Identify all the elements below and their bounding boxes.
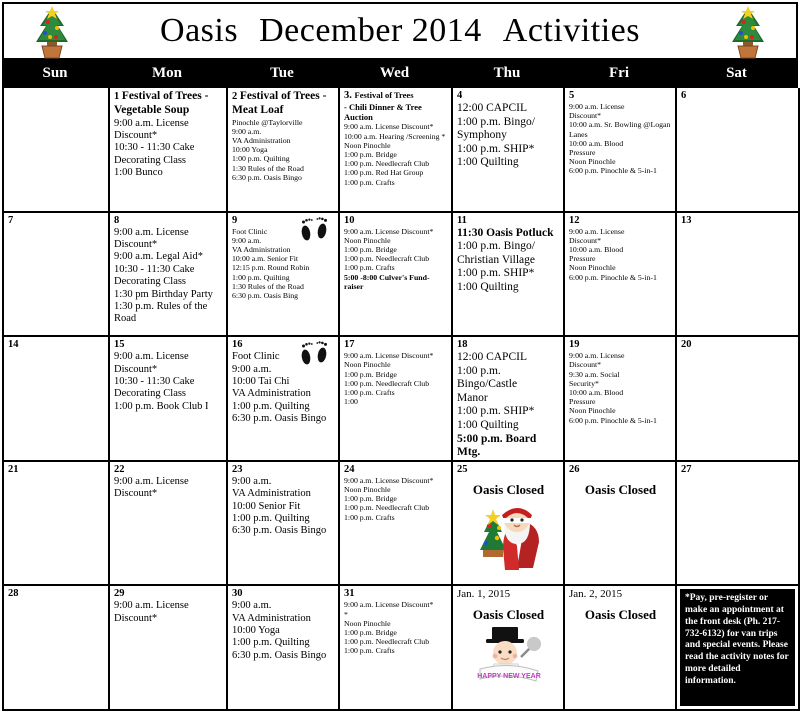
event-line: Discount*	[569, 236, 672, 245]
event-line: 9:00 a.m. License	[114, 600, 223, 612]
event-line: 1:00 Quilting	[457, 281, 560, 295]
event-line: 6:30 p.m. Oasis Bing	[232, 291, 335, 300]
day-number: 8	[114, 215, 223, 227]
day-cell[interactable]: 249:00 a.m. License Discount*Noon Pinoch…	[340, 462, 453, 587]
day-cell[interactable]: 7	[4, 213, 110, 338]
event-line: 1:00 p.m. Crafts	[344, 388, 448, 397]
day-title-line2: Meat Loaf	[232, 104, 335, 118]
event-line: 1:00 p.m. Bingo/	[457, 240, 560, 254]
event-line: 10:30 - 11:30 Cake	[114, 142, 223, 154]
event-line: 1:00 p.m. Quilting	[232, 513, 335, 525]
day-number: 29	[114, 588, 223, 600]
event-line: 10:00 a.m. Blood	[569, 245, 672, 254]
event-line: Pressure	[569, 254, 672, 263]
event-line: Decorating Class	[114, 276, 223, 288]
day-cell[interactable]: 319:00 a.m. License Discount**Noon Pinoc…	[340, 586, 453, 711]
day-number: 23	[232, 464, 335, 476]
closed-label: Oasis Closed	[569, 482, 672, 498]
day-number: 17	[344, 339, 448, 351]
day-title: Festival of Trees	[355, 90, 414, 100]
event-line: *	[344, 610, 448, 619]
day-number: 12	[569, 215, 672, 227]
event-line-highlight: 5:00 -8:00 Culver's Fund-	[344, 273, 448, 282]
day-cell[interactable]: 1111:30 Oasis Potluck1:00 p.m. Bingo/Chr…	[453, 213, 565, 338]
event-line: VA Administration	[232, 613, 335, 625]
event-line: Lanes	[569, 130, 672, 139]
event-line: 6:30 p.m. Oasis Bingo	[232, 413, 335, 425]
day-number: Jan. 2, 2015	[569, 588, 672, 601]
event-line: Pressure	[569, 397, 672, 406]
day-number: 15	[114, 339, 223, 351]
event-line: Symphony	[457, 129, 560, 143]
day-cell[interactable]: 14	[4, 337, 110, 462]
day-cell[interactable]: 25Oasis Closed	[453, 462, 565, 587]
event-line: 1:00 p.m. Quilting	[232, 637, 335, 649]
day-cell[interactable]: 109:00 a.m. License Discount*Noon Pinoch…	[340, 213, 453, 338]
event-line: Noon Pinochle	[344, 360, 448, 369]
weekday-header-wed: Wed	[338, 60, 451, 86]
event-line: 1:00 p.m. Quilting	[232, 273, 335, 282]
event-line: 1:00 p.m. Needlecraft Club	[344, 159, 448, 168]
event-line: Noon Pinochle	[344, 619, 448, 628]
weekday-header-tue: Tue	[226, 60, 338, 86]
day-number: 20	[681, 339, 795, 351]
day-number-label: 1	[114, 91, 122, 102]
day-number: 21	[8, 464, 105, 476]
event-line: 1:00 p.m. Crafts	[344, 513, 448, 522]
day-cell[interactable]: Jan. 2, 2015Oasis Closed	[565, 586, 677, 711]
event-line: 1:00 p.m. Bingo/	[457, 116, 560, 130]
day-cell[interactable]: 412:00 CAPCIL1:00 p.m. Bingo/Symphony1:0…	[453, 88, 565, 213]
new-year-baby-image: HAPPY NEW YEAR	[472, 623, 546, 685]
day-number: 27	[681, 464, 795, 476]
event-line: Noon Pinochle	[569, 263, 672, 272]
event-line: Decorating Class	[114, 388, 223, 400]
event-line: Noon Pinochle	[344, 485, 448, 494]
event-line: 10:00 Yoga	[232, 145, 335, 154]
calendar-grid: 1 Festival of Trees -Vegetable Soup9:00 …	[2, 86, 798, 711]
day-number: Jan. 1, 2015	[457, 588, 560, 601]
day-cell[interactable]: 28	[4, 586, 110, 711]
day-cell[interactable]: 16Foot Clinic9:00 a.m.10:00 Tai ChiVA Ad…	[228, 337, 340, 462]
day-cell[interactable]: 1 Festival of Trees -Vegetable Soup9:00 …	[110, 88, 228, 213]
event-line: 10:00 a.m. Sr. Bowling @Logan	[569, 120, 672, 129]
event-line: 1:00 p.m. Quilting	[232, 401, 335, 413]
day-cell[interactable]: 2 Festival of Trees -Meat LoafPinochle @…	[228, 88, 340, 213]
event-line: 9:00 a.m. License	[114, 476, 223, 488]
event-line: 9:00 a.m. License	[569, 351, 672, 360]
event-line: 9:00 a.m. License	[569, 227, 672, 236]
event-line: Noon Pinochle	[569, 157, 672, 166]
day-cell[interactable]	[4, 88, 110, 213]
day-title: Festival of Trees -	[122, 90, 209, 102]
day-number: 31	[344, 588, 448, 600]
event-line: Discount*	[114, 364, 223, 376]
event-line: Discount*	[569, 111, 672, 120]
day-cell[interactable]: 9Foot Clinic9:00 a.m.VA Administration10…	[228, 213, 340, 338]
weekday-header-fri: Fri	[563, 60, 675, 86]
event-line: 9:00 a.m. License Discount*	[344, 476, 448, 485]
event-line: 1:00 p.m. Bridge	[344, 150, 448, 159]
day-cell[interactable]: 1812:00 CAPCIL1:00 p.m. Bingo/CastleMano…	[453, 337, 565, 462]
event-line: 6:30 p.m. Oasis Bingo	[232, 525, 335, 537]
footnote-box: *Pay, pre-register or make an appointmen…	[680, 589, 795, 706]
event-line: 12:00 CAPCIL	[457, 351, 560, 365]
event-line: 1:00 p.m. Quilting	[232, 154, 335, 163]
event-line: 1:00 p.m. SHIP*	[457, 405, 560, 419]
event-line: Decorating Class	[114, 155, 223, 167]
event-line: 1:00 p.m. Bingo/Castle	[457, 365, 560, 392]
event-line: 6:00 p.m. Pinochle & 5-in-1	[569, 273, 672, 282]
event-line: Discount*	[114, 239, 223, 251]
day-cell[interactable]: 26Oasis Closed	[565, 462, 677, 587]
event-line: 1:00 p.m. Bridge	[344, 628, 448, 637]
event-line: 1:00 Quilting	[457, 419, 560, 433]
day-cell[interactable]: 3. Festival of Trees- Chili Dinner & Tre…	[340, 88, 453, 213]
weekday-header-sat: Sat	[675, 60, 798, 86]
event-line: 9:00 a.m.	[232, 127, 335, 136]
event-line: 10:00 a.m. Blood	[569, 139, 672, 148]
day-cell[interactable]: 159:00 a.m. License Discount*10:30 - 11:…	[110, 337, 228, 462]
event-line: 1:00 p.m. Bridge	[344, 494, 448, 503]
day-cell[interactable]: 299:00 a.m. License Discount*	[110, 586, 228, 711]
closed-label: Oasis Closed	[569, 607, 672, 623]
day-cell[interactable]: *Pay, pre-register or make an appointmen…	[677, 586, 800, 711]
day-cell[interactable]: 59:00 a.m. License Discount*10:00 a.m. S…	[565, 88, 677, 213]
event-line: 9:30 a.m. Social	[569, 370, 672, 379]
day-cell[interactable]: 21	[4, 462, 110, 587]
event-line: 1:30 Rules of the Road	[232, 164, 335, 173]
christmas-tree-icon	[26, 6, 78, 60]
day-number: 11	[457, 215, 560, 227]
day-number: 5	[569, 90, 672, 102]
event-line: Pinochle @Taylorville	[232, 118, 335, 127]
day-title-line2: Vegetable Soup	[114, 104, 223, 118]
footprints-icon	[298, 217, 332, 243]
weekday-header-sun: Sun	[2, 60, 108, 86]
event-line: 12:15 p.m. Round Robin	[232, 263, 335, 272]
event-line: VA Administration	[232, 136, 335, 145]
title-part-month: December 2014	[259, 12, 482, 49]
day-number: 3. Festival of Trees	[344, 90, 448, 102]
event-line: 10:30 - 11:30 Cake	[114, 376, 223, 388]
day-cell[interactable]: 239:00 a.m.VA Administration10:00 Senior…	[228, 462, 340, 587]
event-line: 1:00 p.m. Crafts	[344, 263, 448, 272]
event-line-highlight: raiser	[344, 282, 448, 291]
day-number: 10	[344, 215, 448, 227]
day-number: 24	[344, 464, 448, 476]
day-number: 2 Festival of Trees -	[232, 90, 335, 104]
event-line: VA Administration	[232, 488, 335, 500]
event-line: 10:00 Yoga	[232, 625, 335, 637]
event-line: 1:00 p.m. Book Club I	[114, 401, 223, 413]
weekday-header-mon: Mon	[108, 60, 226, 86]
event-line: 9:00 a.m. License Discount*	[344, 351, 448, 360]
event-line: 1:30 Rules of the Road	[232, 282, 335, 291]
event-line: 9:00 a.m.	[232, 600, 335, 612]
event-line: VA Administration	[232, 245, 335, 254]
event-line: 9:00 a.m. License	[114, 227, 223, 239]
title-part-kind: Activities	[503, 12, 640, 49]
day-number: 1 Festival of Trees -	[114, 90, 223, 104]
day-number: 7	[8, 215, 105, 227]
event-line: 1:00	[344, 397, 448, 406]
event-line: Pressure	[569, 148, 672, 157]
event-line: 1:00 Quilting	[457, 156, 560, 170]
event-line: Discount*	[114, 488, 223, 500]
day-cell[interactable]: 89:00 a.m. License Discount*9:00 a.m. Le…	[110, 213, 228, 338]
event-line: 9:00 a.m. License	[114, 351, 223, 363]
day-number: 22	[114, 464, 223, 476]
event-line: 10:00 Senior Fit	[232, 501, 335, 513]
event-line: 9:00 a.m. License Discount*	[344, 122, 448, 131]
event-line: 9:00 a.m. License	[114, 118, 223, 130]
event-line: 10:30 - 11:30 Cake	[114, 264, 223, 276]
event-line: Discount*	[114, 130, 223, 142]
event-line: Discount*	[114, 613, 223, 625]
event-line: 1:00 p.m. Red Hat Group	[344, 168, 448, 177]
day-number: 18	[457, 339, 560, 351]
event-line: 1:00 p.m. Needlecraft Club	[344, 637, 448, 646]
event-line-highlight: 5:00 p.m. Board Mtg.	[457, 433, 560, 460]
day-cell[interactable]: 129:00 a.m. License Discount*10:00 a.m. …	[565, 213, 677, 338]
day-number: 4	[457, 90, 560, 102]
day-cell[interactable]: Jan. 1, 2015Oasis Closed HAPPY NEW YEAR	[453, 586, 565, 711]
event-line: 1:00 p.m. Needlecraft Club	[344, 254, 448, 263]
page-title: Oasis December 2014 Activities	[154, 12, 646, 50]
event-line: Noon Pinochle	[344, 141, 448, 150]
event-line: 12:00 CAPCIL	[457, 102, 560, 116]
calendar-page: Oasis December 2014 Activities SunMonTue…	[0, 0, 800, 606]
event-line: VA Administration	[232, 388, 335, 400]
day-number-label: 2	[232, 91, 240, 102]
event-line: 1:30 p.m. Rules of the Road	[114, 301, 223, 326]
event-line: 1:00 p.m. SHIP*	[457, 143, 560, 157]
day-cell[interactable]: 27	[677, 462, 800, 587]
day-cell[interactable]: 309:00 a.m.VA Administration10:00 Yoga1:…	[228, 586, 340, 711]
day-number: 6	[681, 90, 795, 102]
day-number: 25	[457, 464, 560, 476]
weekday-header-row: SunMonTueWedThuFriSat	[2, 60, 798, 86]
event-line: 9:00 a.m. License	[569, 102, 672, 111]
day-cell[interactable]: 229:00 a.m. License Discount*	[110, 462, 228, 587]
title-part-org: Oasis	[160, 12, 238, 49]
day-number: 26	[569, 464, 672, 476]
event-line: 6:30 p.m. Oasis Bingo	[232, 173, 335, 182]
event-line: 1:00 p.m. Needlecraft Club	[344, 503, 448, 512]
event-line: 9:00 a.m. License Discount*	[344, 227, 448, 236]
event-line: 9:00 a.m. License Discount*	[344, 600, 448, 609]
day-cell[interactable]: 20	[677, 337, 800, 462]
weekday-header-thu: Thu	[451, 60, 563, 86]
day-number: 30	[232, 588, 335, 600]
event-line: 1:00 p.m. Bridge	[344, 245, 448, 254]
new-year-baby-artwork: HAPPY NEW YEAR	[457, 623, 560, 685]
event-line: Discount*	[569, 360, 672, 369]
closed-label: Oasis Closed	[457, 607, 560, 623]
event-line: Noon Pinochle	[344, 236, 448, 245]
day-number-label: 3.	[344, 90, 355, 101]
event-line: 1:00 p.m. Crafts	[344, 646, 448, 655]
event-line: Security*	[569, 379, 672, 388]
event-line: 6:00 p.m. Pinochle & 5-in-1	[569, 416, 672, 425]
day-cell[interactable]: 13	[677, 213, 800, 338]
svg-text:HAPPY NEW YEAR: HAPPY NEW YEAR	[477, 673, 541, 680]
event-line: 9:00 a.m. Legal Aid*	[114, 251, 223, 263]
day-cell[interactable]: 6	[677, 88, 800, 213]
day-title: Festival of Trees -	[240, 90, 327, 102]
day-cell[interactable]: 199:00 a.m. License Discount*9:30 a.m. S…	[565, 337, 677, 462]
event-line: Noon Pinochle	[569, 406, 672, 415]
day-number: 28	[8, 588, 105, 600]
event-line: 10:00 Tai Chi	[232, 376, 335, 388]
event-line: 1:00 p.m. SHIP*	[457, 267, 560, 281]
event-line: 10:00 a.m. Blood	[569, 388, 672, 397]
event-line: Manor	[457, 392, 560, 406]
event-line: Christian Village	[457, 254, 560, 268]
day-cell[interactable]: 179:00 a.m. License Discount*Noon Pinoch…	[340, 337, 453, 462]
event-line: 1:00 p.m. Needlecraft Club	[344, 379, 448, 388]
event-line: 6:00 p.m. Pinochle & 5-in-1	[569, 166, 672, 175]
day-number: 14	[8, 339, 105, 351]
event-line: 1:00 Bunco	[114, 167, 223, 179]
calendar-title-bar: Oasis December 2014 Activities	[2, 2, 798, 60]
event-line: 6:30 p.m. Oasis Bingo	[232, 650, 335, 662]
event-line: 10:00 a.m. Hearing /Screening *	[344, 132, 448, 141]
footprints-icon	[298, 341, 332, 367]
day-title-line2: - Chili Dinner & Tree Auction	[344, 102, 448, 122]
christmas-tree-icon	[722, 6, 774, 60]
day-number: 13	[681, 215, 795, 227]
event-line: 11:30 Oasis Potluck	[457, 227, 560, 241]
event-line: 9:00 a.m.	[232, 476, 335, 488]
event-line: 1:00 p.m. Crafts	[344, 178, 448, 187]
day-number: 19	[569, 339, 672, 351]
event-line: 1:30 pm Birthday Party	[114, 289, 223, 301]
event-line: 1:00 p.m. Bridge	[344, 370, 448, 379]
event-line: 10:00 a.m. Senior Fit	[232, 254, 335, 263]
santa-with-tree-image	[473, 498, 545, 574]
closed-label: Oasis Closed	[457, 482, 560, 498]
santa-artwork	[457, 498, 560, 574]
